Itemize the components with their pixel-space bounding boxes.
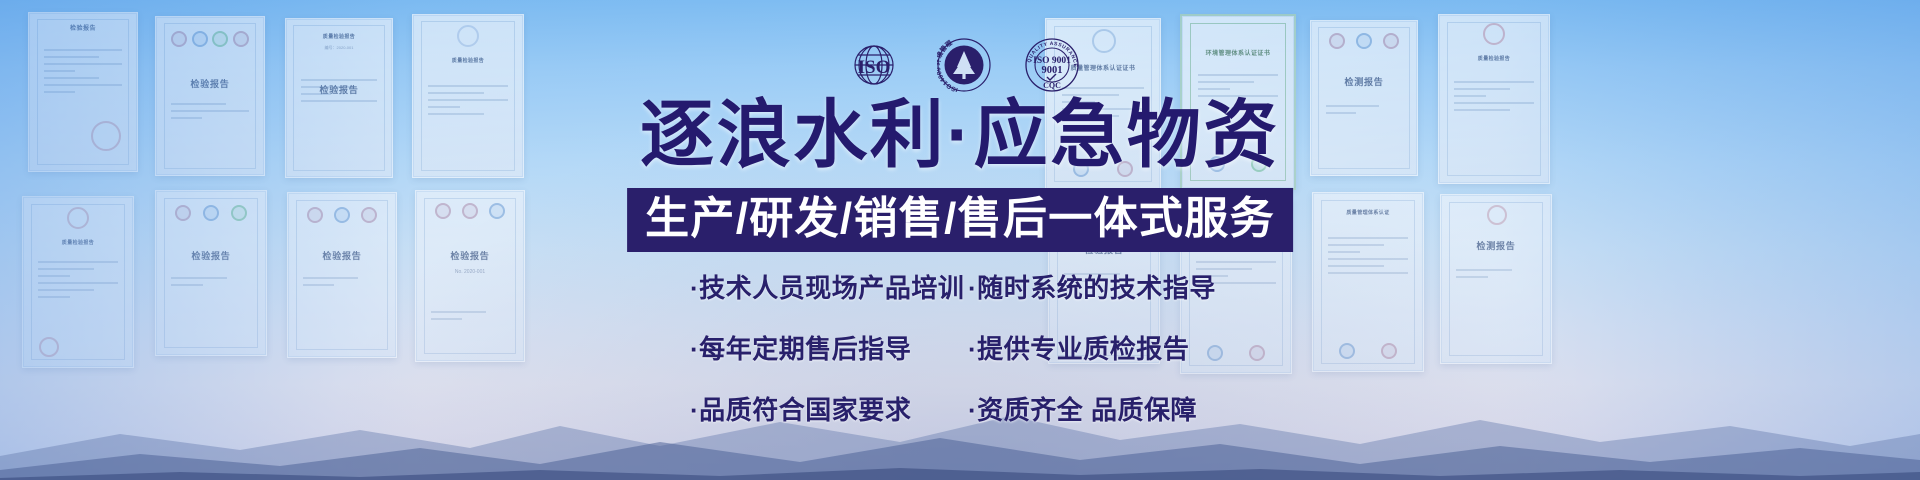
iso9001-cqc-badge-icon: QUALITY ASSURANCE ISO 9001 9001 CQC xyxy=(1025,38,1079,92)
bullet-row: ·品质符合国家要求 ·资质齐全 品质保障 xyxy=(690,390,1230,427)
iso-globe-badge-icon: ISO xyxy=(845,40,903,90)
banner-headline: 逐浪水利·应急物资 xyxy=(0,98,1920,172)
cqc-label: CQC xyxy=(1043,81,1061,90)
bullet-item: ·随时系统的技术指导 xyxy=(968,268,1230,305)
bullet-item: ·技术人员现场产品培训 xyxy=(690,268,952,305)
bullet-row: ·每年定期售后指导 ·提供专业质检报告 xyxy=(690,329,1230,366)
svg-text:9001: 9001 xyxy=(1042,65,1063,76)
bullet-item: ·品质符合国家要求 xyxy=(690,390,952,427)
bullet-item: ·每年定期售后指导 xyxy=(690,329,952,366)
iso14000-badge-icon: ISO14000 环境管理 xyxy=(937,38,991,92)
bullet-row: ·技术人员现场产品培训 ·随时系统的技术指导 xyxy=(690,268,1230,305)
promotional-banner: 检验报告 检验报告 质量检验报告 编号：2020-001 检验报告 质量检验报告 xyxy=(0,0,1920,480)
certification-badge-group: ISO ISO14000 环境管理 QUALITY ASSURANCE xyxy=(845,38,1079,92)
banner-content: ISO ISO14000 环境管理 QUALITY ASSURANCE xyxy=(0,0,1920,480)
bullet-item: ·资质齐全 品质保障 xyxy=(968,390,1230,427)
iso-globe-badge-label: ISO xyxy=(858,57,891,78)
subtitle-bar: 生产/研发/销售/售后一体式服务 xyxy=(627,188,1293,252)
bullet-item: ·提供专业质检报告 xyxy=(968,329,1230,366)
feature-bullet-list: ·技术人员现场产品培训 ·随时系统的技术指导 ·每年定期售后指导 ·提供专业质检… xyxy=(690,268,1230,451)
